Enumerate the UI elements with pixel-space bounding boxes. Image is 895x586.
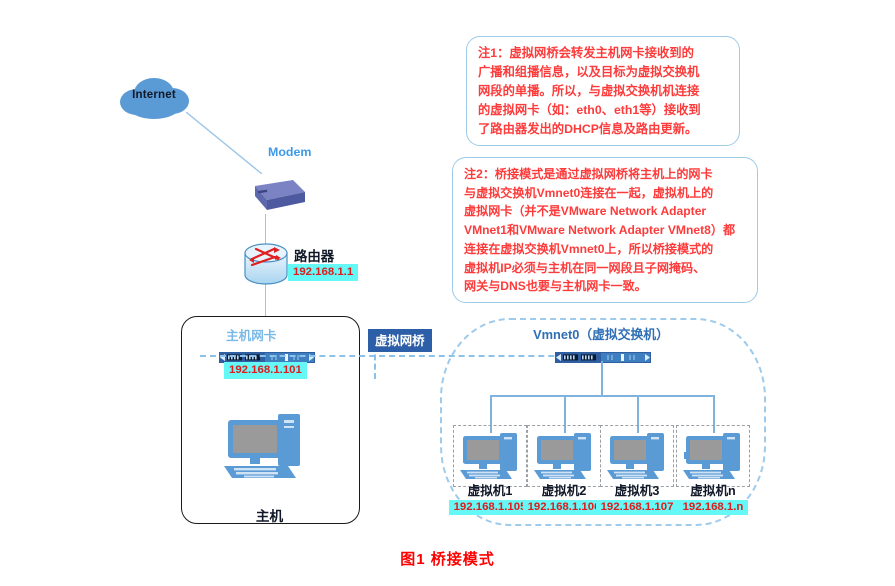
note1-line-4: 的虚拟网卡（如：eth0、eth1等）接收到	[478, 101, 728, 120]
vm-icon-4	[681, 430, 745, 482]
internet-label: Internet	[112, 89, 196, 101]
vm-icon-3	[605, 430, 669, 482]
internet-cloud: Internet	[112, 76, 196, 122]
host-nic-ip: 192.168.1.101	[224, 362, 307, 379]
vm-selection-box	[453, 425, 527, 487]
vm-selection-box	[600, 425, 674, 487]
host-nic-label: 主机网卡	[226, 325, 276, 344]
vm-icon-1	[458, 430, 522, 482]
host-computer-icon	[222, 410, 308, 482]
note2-line-4: VMnet1和VMware Network Adapter VMnet8）都	[464, 221, 746, 240]
note2-line-6: 虚拟机IP必须与主机在同一网段且子网掩码、	[464, 259, 746, 278]
note2-line-5: 连接在虚拟交换机Vmnet0上，所以桥接模式的	[464, 240, 746, 259]
switch-trunk-vertical	[601, 361, 603, 396]
note1-line-3: 网段的单播。所以，与虚拟交换机机连接	[478, 82, 728, 101]
virtual-switch-icon	[555, 350, 651, 361]
host-label: 主机	[181, 505, 358, 525]
router-ip: 192.168.1.1	[288, 264, 358, 281]
vm-ip-wrap-4: 192.168.1.n	[665, 497, 761, 515]
router-icon	[243, 243, 289, 285]
vmnet0-title: Vmnet0（虚拟交换机）	[440, 324, 762, 343]
vm-ip-4: 192.168.1.n	[678, 500, 749, 515]
vm-selection-box	[676, 425, 750, 487]
note1-line-2: 广播和组播信息，以及目标为虚拟交换机	[478, 63, 728, 82]
note2-line-1: 注2：桥接模式是通过虚拟网桥将主机上的网卡	[464, 165, 746, 184]
vm-icon-2	[532, 430, 596, 482]
note2-line-3: 虚拟网卡（并不是VMware Network Adapter	[464, 202, 746, 221]
note2-line-7: 网关与DNS也要与主机网卡一致。	[464, 277, 746, 296]
note1-line-1: 注1：虚拟网桥会转发主机网卡接收到的	[478, 44, 728, 63]
modem-label: Modem	[268, 145, 311, 159]
note1-line-5: 了路由器发出的DHCP信息及路由更新。	[478, 120, 728, 139]
modem-icon	[243, 178, 305, 218]
vm-selection-box	[527, 425, 601, 487]
note-box-1: 注1：虚拟网桥会转发主机网卡接收到的 广播和组播信息，以及目标为虚拟交换机 网段…	[466, 36, 740, 146]
virtual-bridge-badge: 虚拟网桥	[368, 329, 432, 352]
router-label: 路由器	[294, 245, 334, 265]
switch-trunk-horizontal	[490, 395, 714, 397]
figure-caption: 图1 桥接模式	[0, 548, 895, 569]
note2-line-2: 与虚拟交换机Vmnet0连接在一起，虚拟机上的	[464, 184, 746, 203]
note-box-2: 注2：桥接模式是通过虚拟网桥将主机上的网卡 与虚拟交换机Vmnet0连接在一起，…	[452, 157, 758, 303]
link-internet-modem	[186, 112, 262, 174]
link-modem-router	[265, 214, 266, 246]
